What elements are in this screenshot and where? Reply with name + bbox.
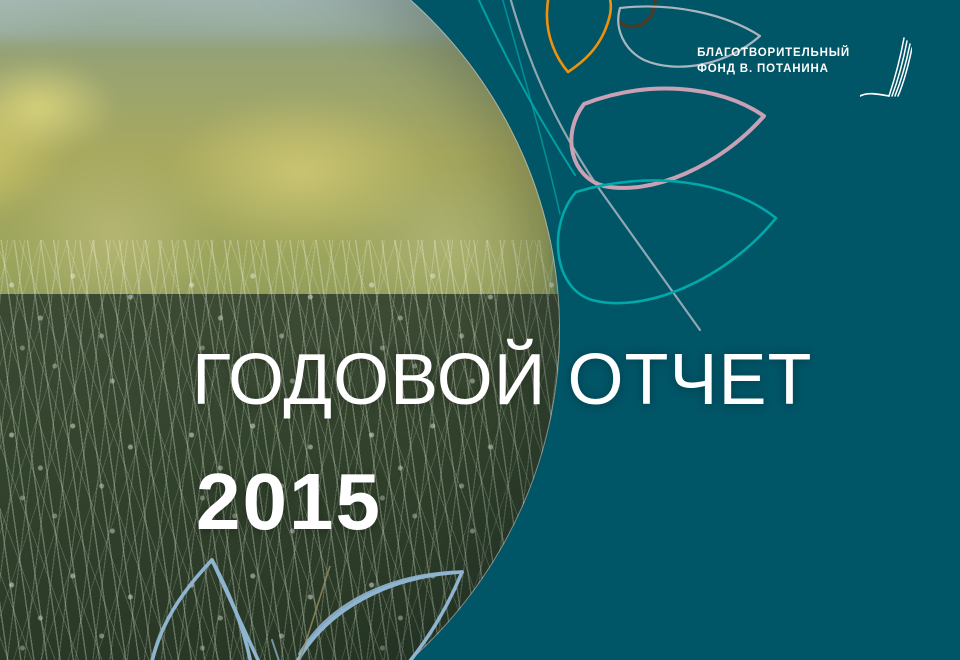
cover-photo (0, 0, 560, 660)
photo-vignette (0, 0, 560, 660)
report-year: 2015 (196, 462, 382, 542)
foundation-logo-text: БЛАГОТВОРИТЕЛЬНЫЙ ФОНД В. ПОТАНИНА (697, 34, 850, 77)
page-title: ГОДОВОЙ ОТЧЕТ (192, 344, 813, 416)
foundation-logo-line-2: ФОНД В. ПОТАНИНА (697, 61, 850, 77)
annual-report-cover: БЛАГОТВОРИТЕЛЬНЫЙ ФОНД В. ПОТАНИНА ГОДОВ… (0, 0, 960, 660)
potanin-foundation-mark-icon (860, 34, 912, 106)
cover-photo-image (0, 0, 560, 660)
foundation-logo: БЛАГОТВОРИТЕЛЬНЫЙ ФОНД В. ПОТАНИНА (697, 34, 912, 106)
foundation-logo-line-1: БЛАГОТВОРИТЕЛЬНЫЙ (697, 45, 850, 61)
